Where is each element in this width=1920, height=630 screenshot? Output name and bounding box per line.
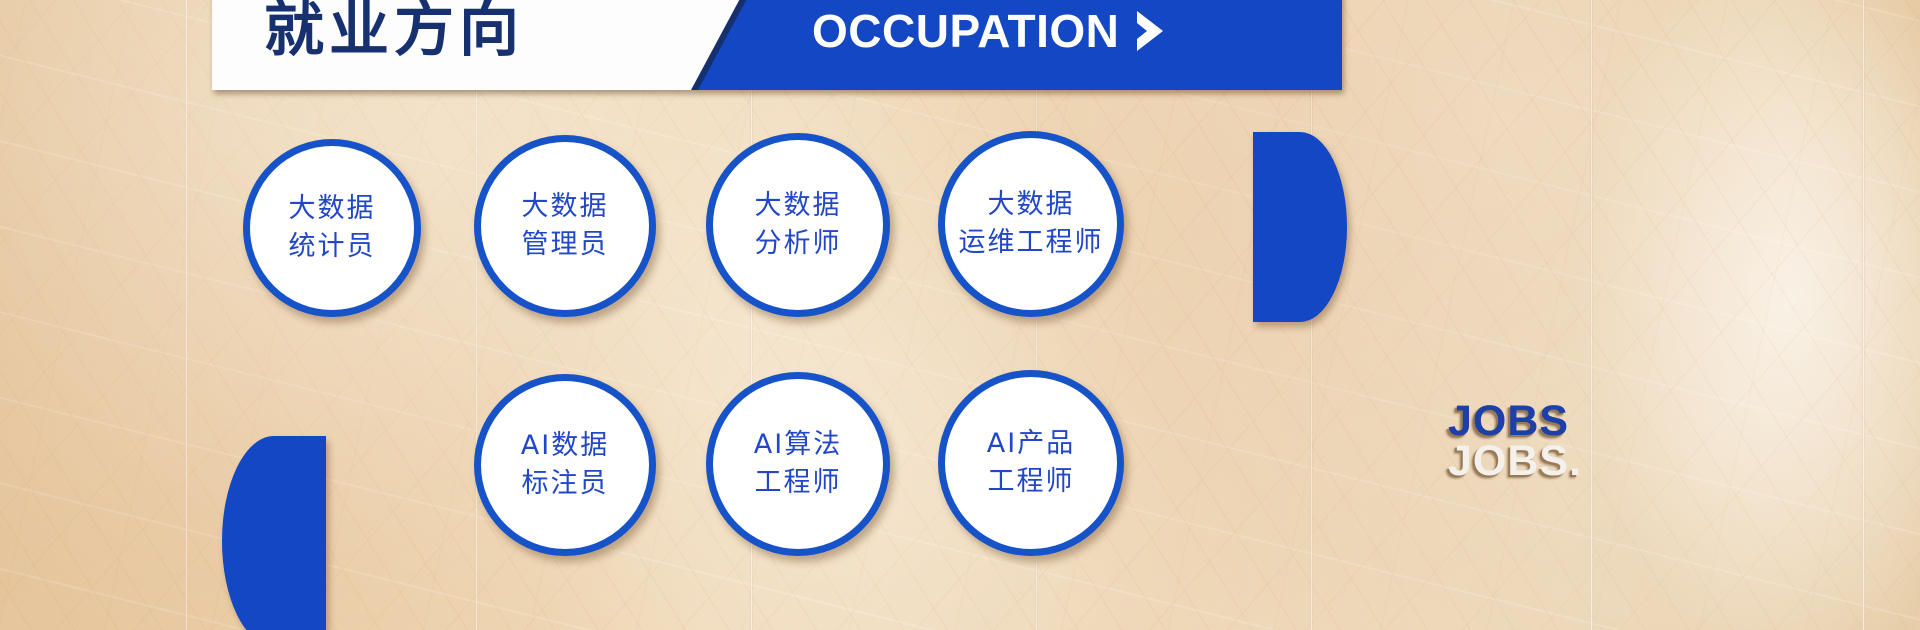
job-label-line2: 分析师 <box>755 225 842 263</box>
job-circle-ai-data-annotator[interactable]: AI数据 标注员 <box>474 374 656 556</box>
job-label-line1: AI产品 <box>987 425 1075 463</box>
tile-seam <box>1590 0 1593 630</box>
job-label-line1: 大数据 <box>289 190 376 228</box>
job-label-line1: AI算法 <box>754 426 842 464</box>
job-circle-big-data-statistician[interactable]: 大数据 统计员 <box>243 139 421 317</box>
job-label-line2: 工程师 <box>988 463 1075 501</box>
job-label-line2: 工程师 <box>755 464 842 502</box>
jobs-logo: JOBS JOBS. <box>1448 400 1638 505</box>
job-label-line1: 大数据 <box>988 186 1075 224</box>
decor-half-circle-right <box>1253 132 1347 322</box>
job-label-line1: AI数据 <box>521 427 609 465</box>
tile-seam <box>1862 0 1865 630</box>
job-label-line1: 大数据 <box>755 187 842 225</box>
banner-title-english: OCCUPATION <box>812 8 1119 54</box>
logo-text-bottom: JOBS. <box>1448 440 1582 483</box>
job-label-line2: 统计员 <box>289 228 376 266</box>
job-label-line2: 管理员 <box>522 226 609 264</box>
job-label-line2: 标注员 <box>522 465 609 503</box>
job-circle-big-data-analyst[interactable]: 大数据 分析师 <box>706 133 890 317</box>
tile-seam <box>475 0 478 630</box>
banner-title-chinese: 就业方向 <box>264 0 524 60</box>
occupation-header-banner: 就业方向 OCCUPATION <box>212 0 1342 90</box>
job-circle-ai-product-engineer[interactable]: AI产品 工程师 <box>938 370 1124 556</box>
tile-seam <box>185 0 188 630</box>
job-label-line2: 运维工程师 <box>959 224 1104 262</box>
job-circle-ai-algorithm-engineer[interactable]: AI算法 工程师 <box>706 372 890 556</box>
job-label-line1: 大数据 <box>522 188 609 226</box>
job-circle-big-data-administrator[interactable]: 大数据 管理员 <box>474 135 656 317</box>
job-circle-big-data-ops-engineer[interactable]: 大数据 运维工程师 <box>938 131 1124 317</box>
banner-title-group: OCCUPATION <box>812 8 1167 54</box>
chevron-right-icon <box>1133 9 1167 53</box>
decor-half-circle-left <box>222 436 326 630</box>
